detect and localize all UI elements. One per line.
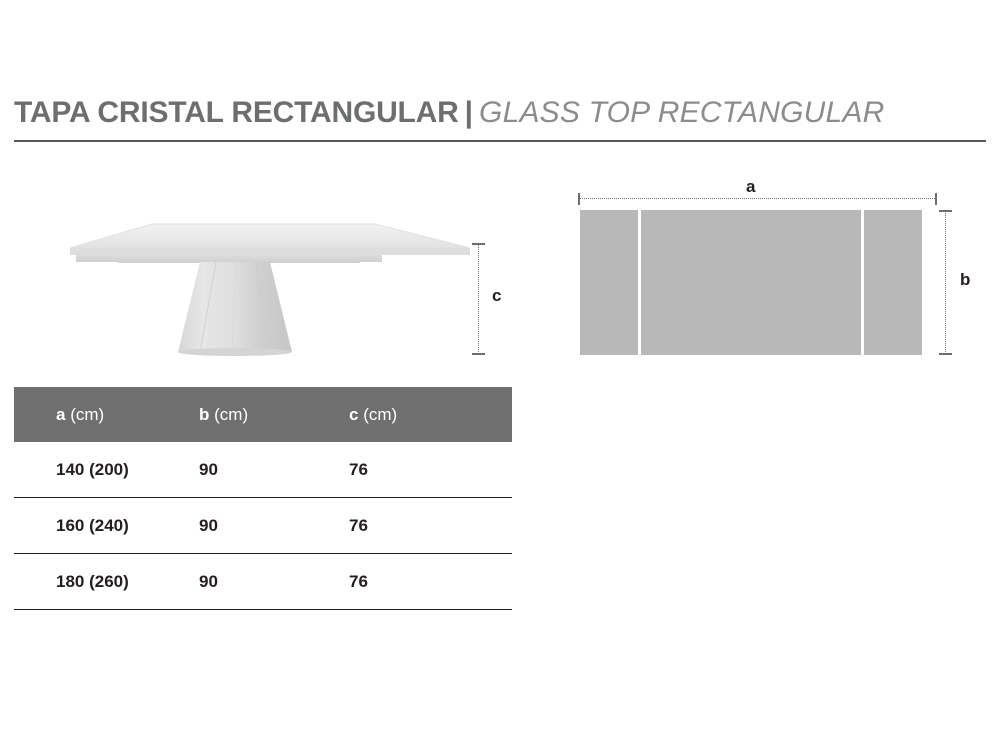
top-view-panel-right xyxy=(864,210,922,355)
page-title-spanish: TAPA CRISTAL RECTANGULAR xyxy=(14,96,459,129)
table-cell-b: 90 xyxy=(199,572,349,592)
table-header-c-symbol: c xyxy=(349,405,358,424)
table-top-view-illustration: a b xyxy=(560,165,990,375)
dimension-b-label: b xyxy=(960,270,970,290)
table-header-row: a (cm) b (cm) c (cm) xyxy=(14,387,512,442)
title-divider-rule xyxy=(14,140,986,142)
table-perspective-illustration xyxy=(30,200,490,380)
dimension-b-tick-bottom xyxy=(939,353,952,355)
dimension-a-tick-right xyxy=(935,193,937,205)
dimension-a-label: a xyxy=(746,177,755,197)
page-title-block: TAPA CRISTAL RECTANGULAR|GLASS TOP RECTA… xyxy=(14,94,986,142)
table-cell-c: 76 xyxy=(349,516,470,536)
dimension-a: a xyxy=(578,177,938,205)
pedestal-foot xyxy=(178,348,292,356)
specification-table: a (cm) b (cm) c (cm) 140 (200) 90 76 160… xyxy=(14,387,512,610)
extension-leaf-right xyxy=(356,255,382,262)
table-header-a-unit: (cm) xyxy=(70,405,104,424)
top-view-panel-center xyxy=(641,210,861,355)
table-cell-a: 160 (240) xyxy=(14,516,199,536)
dimension-a-line xyxy=(578,198,937,199)
table-cell-c: 76 xyxy=(349,572,470,592)
table-cell-a: 180 (260) xyxy=(14,572,199,592)
table-header-b: b (cm) xyxy=(199,405,349,425)
table-cell-a: 140 (200) xyxy=(14,460,199,480)
glass-top-face xyxy=(70,224,470,248)
table-row: 180 (260) 90 76 xyxy=(14,554,512,610)
dimension-a-tick-left xyxy=(578,193,580,205)
dimension-b-line xyxy=(945,211,946,354)
table-apron xyxy=(118,255,360,263)
dimension-c-label: c xyxy=(492,286,501,306)
table-perspective-svg xyxy=(30,200,490,380)
table-header-c-unit: (cm) xyxy=(363,405,397,424)
top-view-panels xyxy=(580,210,922,355)
dimension-c-tick-bottom xyxy=(472,353,485,355)
table-header-a: a (cm) xyxy=(14,405,199,425)
table-cell-c: 76 xyxy=(349,460,470,480)
page-title-separator: | xyxy=(459,96,479,129)
table-cell-b: 90 xyxy=(199,516,349,536)
table-cell-b: 90 xyxy=(199,460,349,480)
table-row: 140 (200) 90 76 xyxy=(14,442,512,498)
dimension-c-line xyxy=(478,244,479,354)
page-title-english: GLASS TOP RECTANGULAR xyxy=(479,96,884,129)
table-header-c: c (cm) xyxy=(349,405,470,425)
table-header-a-symbol: a xyxy=(56,405,65,424)
top-view-panel-left xyxy=(580,210,638,355)
glass-top-edge xyxy=(70,248,470,255)
dimension-b: b xyxy=(938,207,986,359)
extension-leaf-left xyxy=(76,255,122,262)
dimension-c: c xyxy=(470,238,516,362)
table-header-b-unit: (cm) xyxy=(214,405,248,424)
table-row: 160 (240) 90 76 xyxy=(14,498,512,554)
page-title: TAPA CRISTAL RECTANGULAR|GLASS TOP RECTA… xyxy=(14,94,884,132)
table-header-b-symbol: b xyxy=(199,405,209,424)
